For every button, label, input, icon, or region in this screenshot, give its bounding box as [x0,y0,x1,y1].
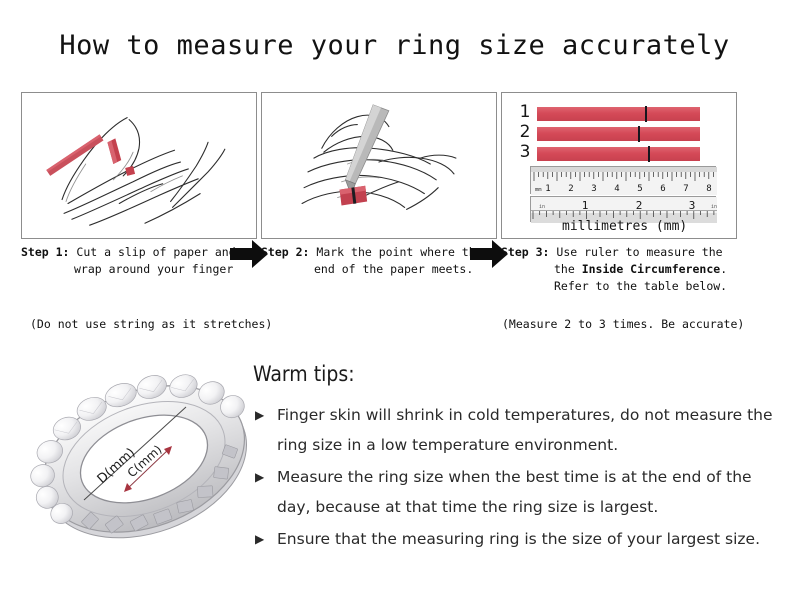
svg-text:8: 8 [706,184,711,194]
step-1-panel [21,92,257,239]
step-3-line2-suffix: . [720,262,727,276]
measured-strip-3: 3 [516,147,721,161]
triangle-bullet-icon: ▶ [255,462,264,492]
step-column-2: Step 2: Mark the point where the end of … [261,92,499,239]
svg-text:2: 2 [568,184,573,194]
warm-tip-item: ▶ Measure the ring size when the best ti… [253,462,773,522]
svg-text:mm: mm [535,187,542,193]
hand-with-paper-slip-illustration [22,93,256,238]
measured-strip-2: 2 [516,127,721,141]
step-3-line2-prefix: the [554,262,582,276]
strip-mark-3 [648,146,650,162]
step-1-line1: Cut a slip of paper and [76,245,235,259]
step-2-line1: Mark the point where the [316,245,482,259]
svg-text:1: 1 [545,184,550,194]
step-3-line2-bold: Inside Circumference [582,262,720,276]
svg-text:3: 3 [689,199,696,212]
ruler-metric-ticks: 123 456 78 mm [531,167,717,195]
strip-mark-1 [645,106,647,122]
strip-bar-2 [537,127,700,141]
paper-slip-marked [340,186,368,206]
triangle-bullet-icon: ▶ [255,524,264,554]
step-3-label: Step 3: [501,245,549,259]
warm-tips-section: Warm tips: ▶ Finger skin will shrink in … [253,362,773,556]
triangle-bullet-icon: ▶ [255,400,264,430]
step-2-label: Step 2: [261,245,309,259]
svg-text:5: 5 [637,184,642,194]
step-3-line2: the Inside Circumference. [501,261,749,278]
ruler-unit-caption: millimetres (mm) [562,219,687,234]
step-column-1: Step 1: Cut a slip of paper and wrap aro… [21,92,259,239]
strip-bar-3 [537,147,700,161]
svg-text:6: 6 [660,184,665,194]
step-2-panel [261,92,497,239]
svg-text:in: in [711,204,717,210]
step-3-note: (Measure 2 to 3 times. Be accurate) [502,316,760,332]
step-1-label: Step 1: [21,245,69,259]
svg-text:2: 2 [636,199,643,212]
strip-number-1: 1 [516,102,534,122]
step-3-line1: Use ruler to measure the [556,245,722,259]
warm-tip-item: ▶ Ensure that the measuring ring is the … [253,524,773,554]
step-3-line3: Refer to the table below. [501,278,749,295]
strip-mark-2 [638,126,640,142]
warm-tip-text: Finger skin will shrink in cold temperat… [277,406,773,454]
paper-slip-wrapped [107,138,121,164]
svg-text:7: 7 [683,184,688,194]
svg-text:in: in [539,204,545,210]
svg-text:3: 3 [591,184,596,194]
warm-tip-text: Ensure that the measuring ring is the si… [277,530,760,548]
svg-text:1: 1 [582,199,589,212]
warm-tip-text: Measure the ring size when the best time… [277,468,752,516]
paper-slip-loose [46,134,103,175]
step-3-caption: Step 3: Use ruler to measure the the Ins… [501,244,749,295]
strip-number-3: 3 [516,142,534,162]
strip-number-2: 2 [516,122,534,142]
strip-bar-1 [537,107,700,121]
measured-strip-1: 1 [516,107,721,121]
warm-tip-item: ▶ Finger skin will shrink in cold temper… [253,400,773,460]
ruler-metric: 123 456 78 mm [530,166,716,194]
warm-tips-heading: Warm tips: [253,362,773,386]
page-title: How to measure your ring size accurately [0,30,789,61]
ring-diagram-wrap: D(mm) C(mm) [28,352,260,567]
svg-text:4: 4 [614,184,619,194]
steps-row: Step 1: Cut a slip of paper and wrap aro… [0,92,789,332]
step-1-note: (Do not use string as it stretches) [30,316,288,332]
step-3-panel: 1 2 3 [501,92,737,239]
hand-marking-paper-illustration [262,93,496,238]
step-column-3: 1 2 3 [501,92,739,239]
eternity-ring-diagram: D(mm) C(mm) [28,352,260,567]
